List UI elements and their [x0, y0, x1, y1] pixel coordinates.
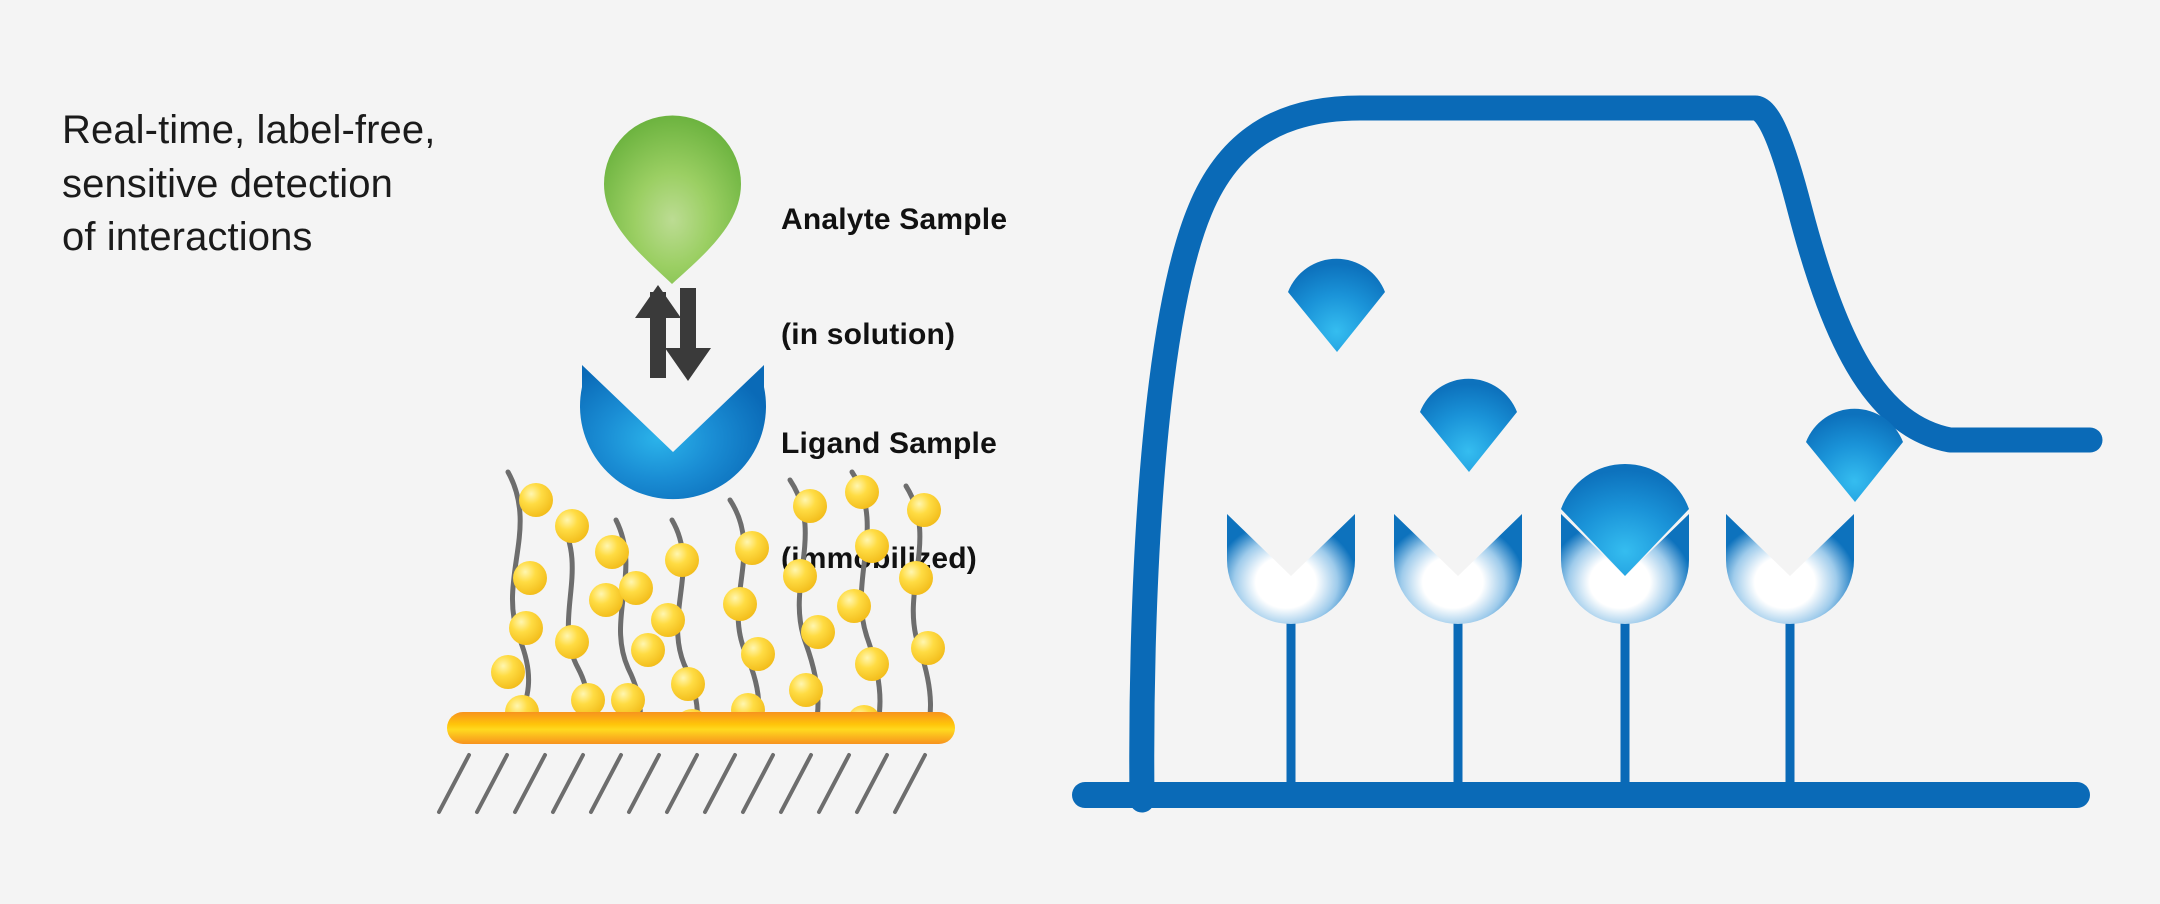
receptor-head — [1726, 514, 1854, 624]
receptor-head — [1227, 514, 1355, 624]
notched-receptor-icon — [580, 365, 766, 499]
substrate-hatch-icon — [439, 755, 925, 812]
diagram-canvas: Real-time, label-free, sensitive detecti… — [0, 0, 2160, 904]
up-down-arrows-icon — [635, 285, 711, 381]
free-analyte-wedges — [1288, 259, 1903, 502]
analyte-wedge-icon — [1420, 379, 1517, 472]
gold-sensor-chip-icon — [447, 712, 955, 744]
receptor-head — [1394, 514, 1522, 624]
teardrop-analyte-icon — [604, 116, 741, 285]
sensor-surface-baseline-icon — [1072, 782, 2090, 808]
analyte-wedge-icon — [1288, 259, 1385, 352]
dextran-beads-icon — [491, 475, 945, 743]
analyte-wedge-icon — [1806, 409, 1903, 502]
diagram-artwork — [0, 0, 2160, 904]
receptor-stems — [1291, 620, 1790, 796]
surface-receptors — [1227, 514, 1854, 624]
sensorgram-curve — [1142, 108, 2090, 800]
